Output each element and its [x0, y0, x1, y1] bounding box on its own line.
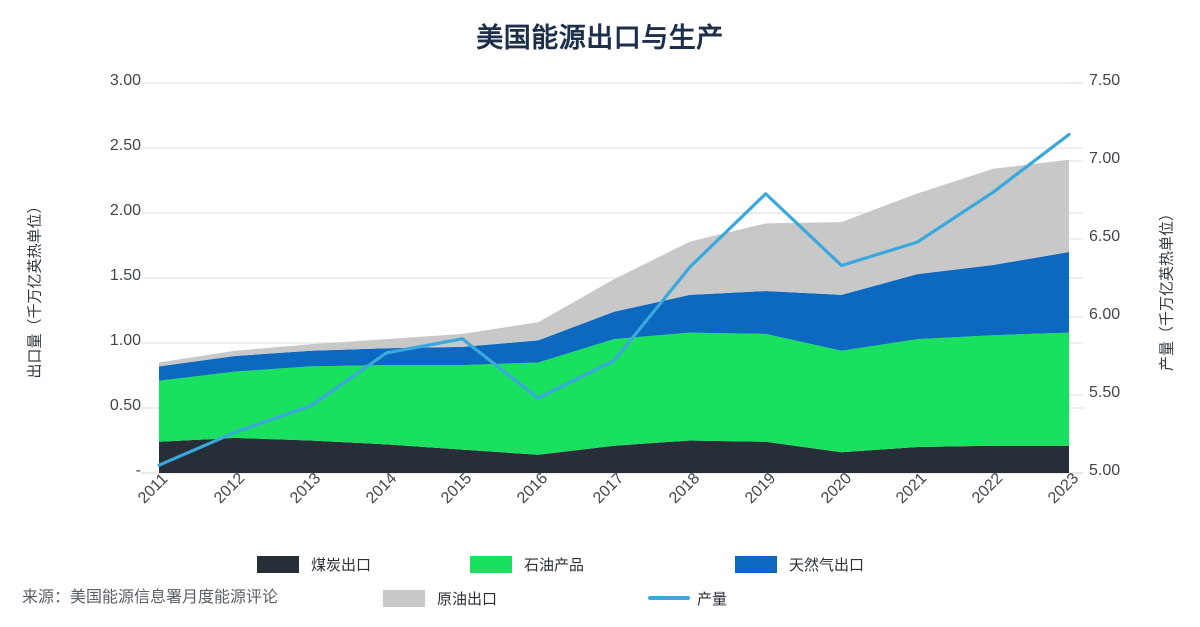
legend-item-4[interactable]: 原油出口 [383, 588, 497, 609]
left-tick-label: - [71, 462, 141, 480]
legend-color-swatch-icon [735, 556, 777, 573]
legend-item-1[interactable]: 煤炭出口 [257, 554, 371, 575]
source-note: 来源：美国能源信息署月度能源评论 [22, 583, 278, 607]
right-axis-title: 产量（千万亿英热单位） [1156, 124, 1177, 454]
plot-area [0, 0, 1200, 627]
legend-color-swatch-icon [470, 556, 512, 573]
right-tick-label: 7.50 [1089, 72, 1159, 90]
left-tick-label: 3.00 [71, 72, 141, 90]
right-tick-label: 6.50 [1089, 228, 1159, 246]
legend-item-5[interactable]: 产量 [648, 588, 727, 609]
left-tick-label: 1.00 [71, 332, 141, 350]
legend-label: 煤炭出口 [311, 554, 371, 575]
left-tick-label: 1.50 [71, 267, 141, 285]
left-axis-title: 出口量（千万亿英热单位） [24, 124, 45, 454]
legend-color-swatch-icon [257, 556, 299, 573]
left-tick-label: 0.50 [71, 397, 141, 415]
legend-label: 石油产品 [524, 554, 584, 575]
page-title: 美国能源出口与生产 [0, 16, 1200, 55]
legend-label: 产量 [697, 588, 727, 609]
legend-label: 天然气出口 [789, 554, 864, 575]
chart-container: 美国能源出口与生产 出口量（千万亿英热单位） 产量（千万亿英热单位） 3.002… [0, 0, 1200, 627]
left-tick-label: 2.00 [71, 202, 141, 220]
legend-item-3[interactable]: 天然气出口 [735, 554, 864, 575]
legend-color-swatch-icon [383, 590, 425, 607]
right-tick-label: 5.50 [1089, 384, 1159, 402]
right-tick-label: 6.00 [1089, 306, 1159, 324]
right-tick-label: 7.00 [1089, 150, 1159, 168]
legend-line-swatch-icon [648, 596, 690, 600]
legend-item-2[interactable]: 石油产品 [470, 554, 584, 575]
left-tick-label: 2.50 [71, 137, 141, 155]
right-tick-label: 5.00 [1089, 462, 1159, 480]
legend-label: 原油出口 [437, 588, 497, 609]
